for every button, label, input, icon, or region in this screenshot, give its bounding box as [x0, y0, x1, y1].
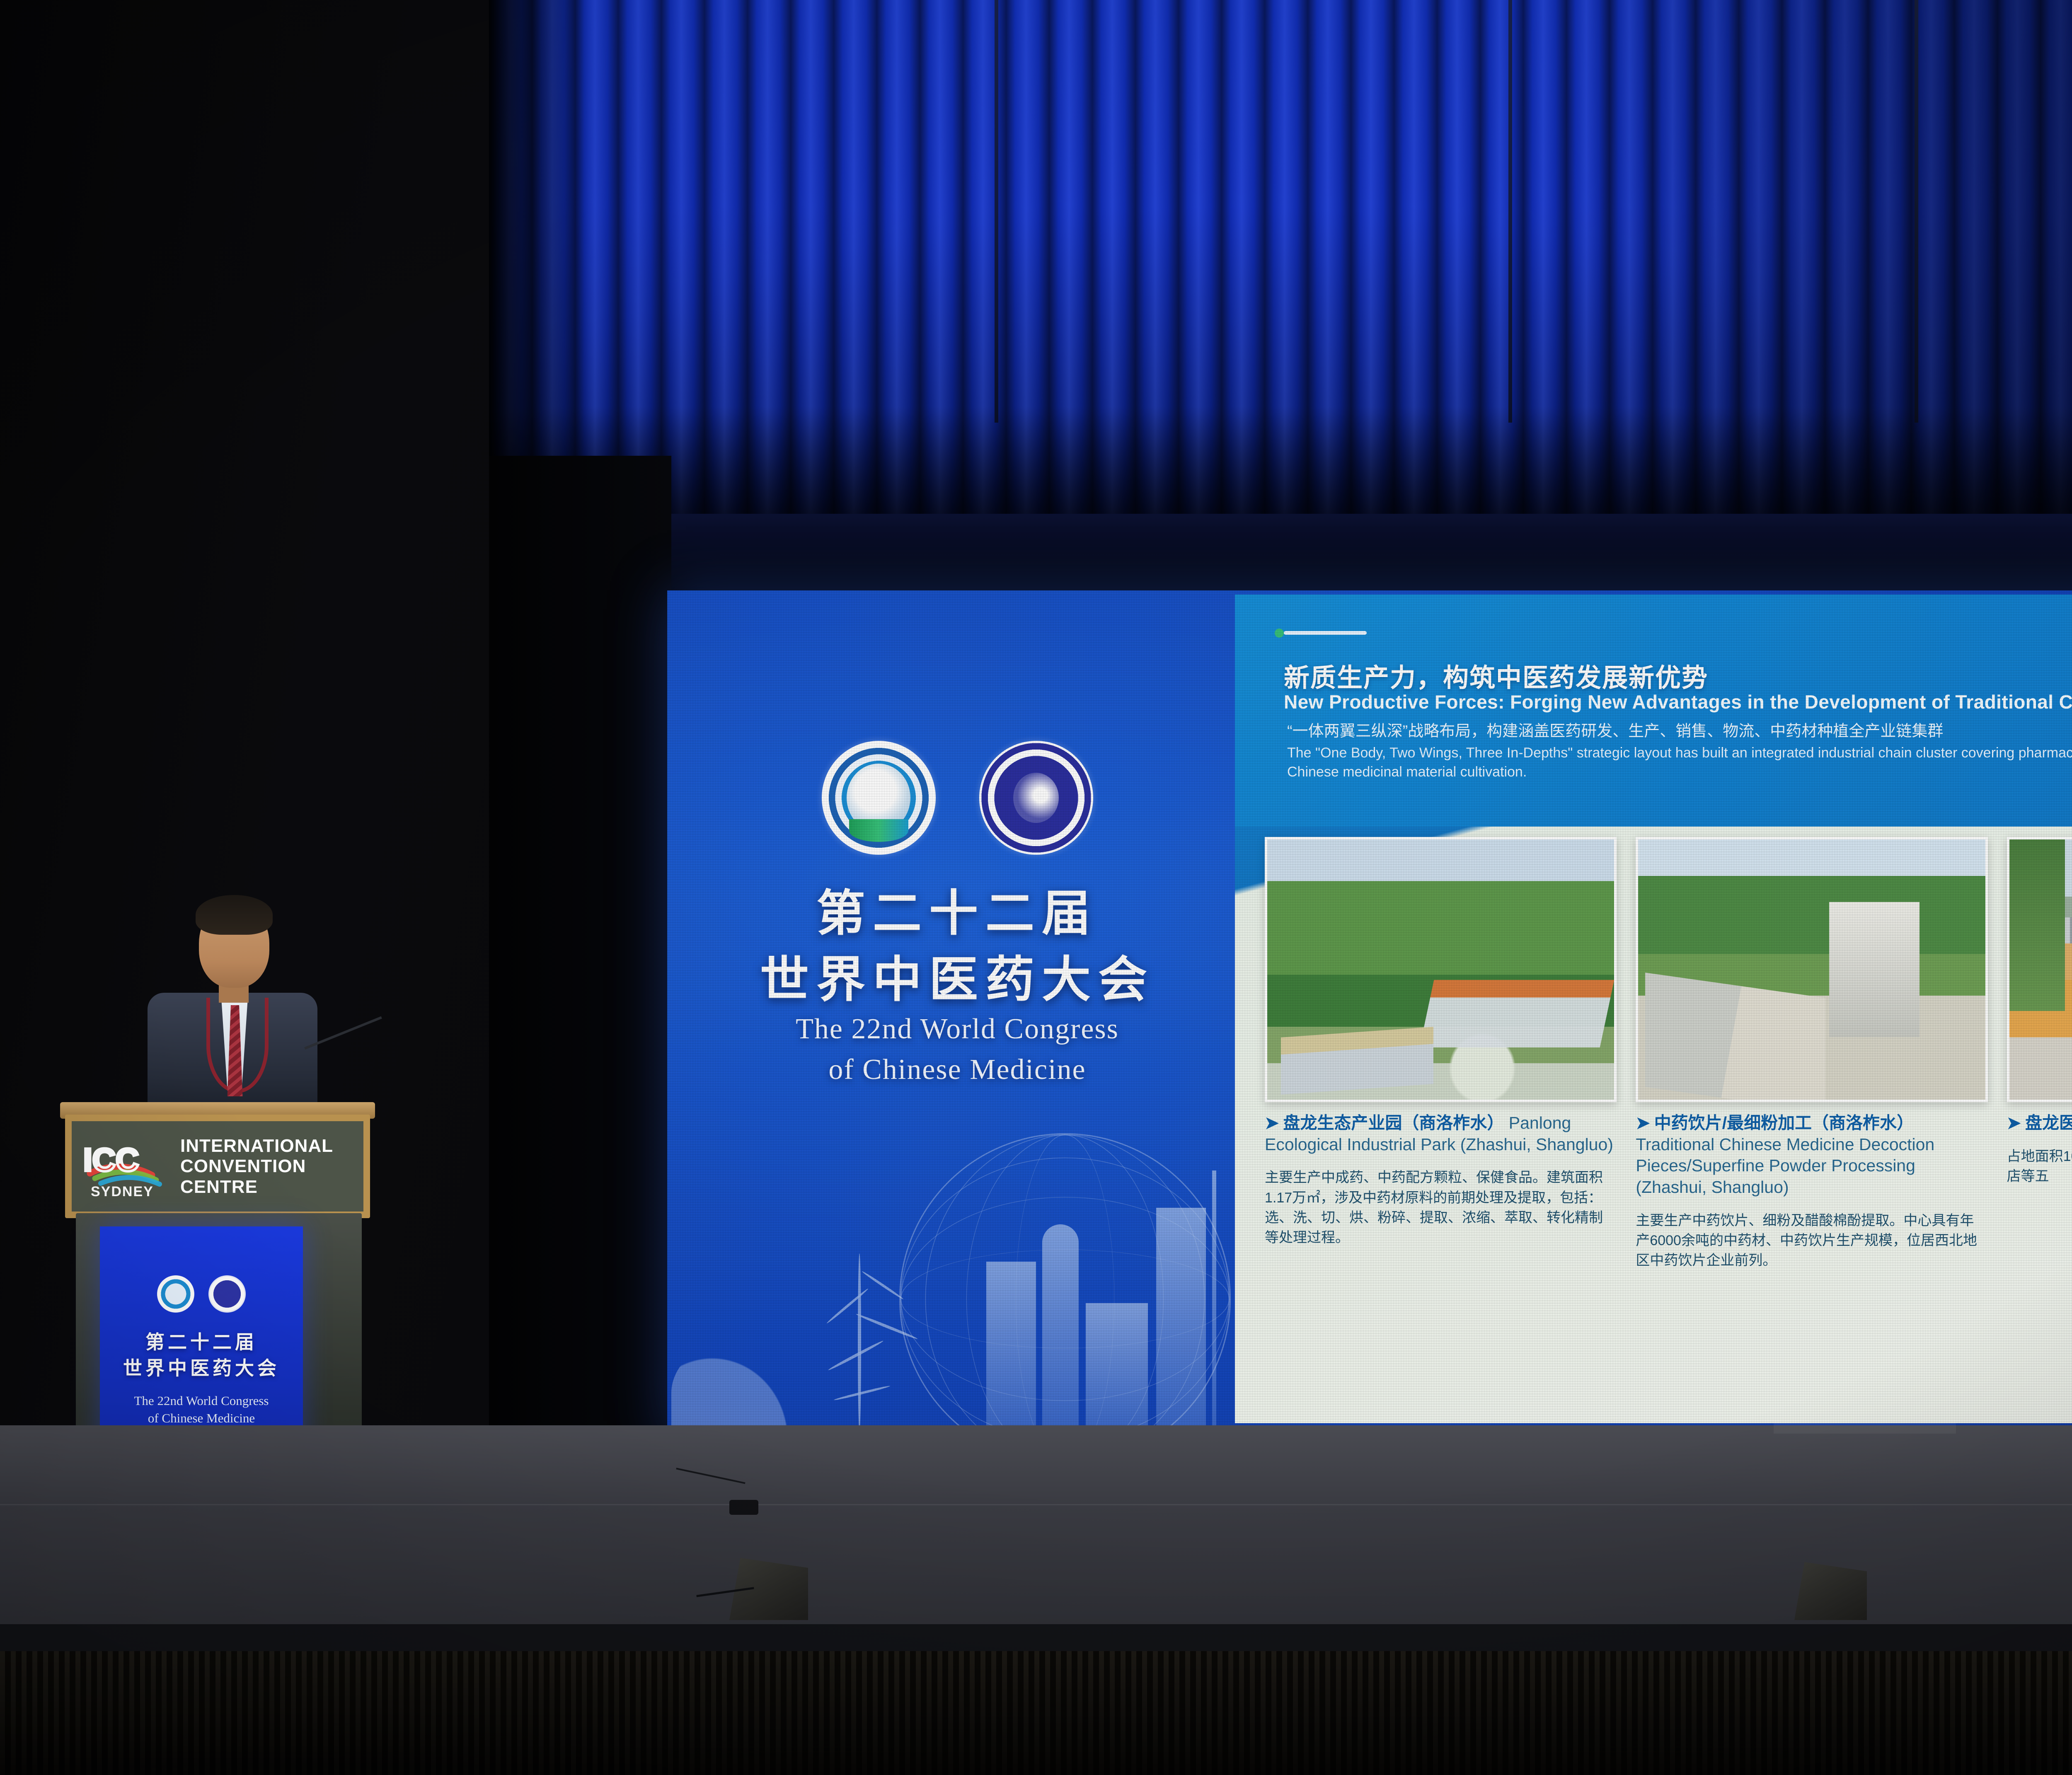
slide-caption-1: ➤盘龙生态产业园（商洛柞水） Panlong Ecological Indust…	[1265, 1112, 1617, 1270]
skyline-spire	[1212, 1170, 1216, 1440]
icc-sydney-wordmark: SYDNEY	[91, 1184, 154, 1200]
backdrop-decorative-artwork	[667, 1125, 1280, 1440]
slide-caption-row: ➤盘龙生态产业园（商洛柞水） Panlong Ecological Indust…	[1265, 1112, 2072, 1270]
slide-bullet-dot-icon	[1275, 629, 1284, 638]
emblem-row	[792, 735, 1123, 860]
chevron-right-icon: ➤	[1265, 1113, 1279, 1132]
australia-tcm-emblem-icon	[208, 1275, 246, 1313]
caption-body: 主要生产中药饮片、细粉及醋酸棉酚提取。中心具有年产6000余吨的中药材、中药饮片…	[1636, 1211, 1987, 1271]
chevron-right-icon: ➤	[2007, 1113, 2021, 1132]
led-backdrop-screen: 第二十二届 世界中医药大会 The 22nd World Congress of…	[667, 590, 2072, 1440]
skyline-tower	[986, 1262, 1036, 1440]
backdrop-title-english: The 22nd World Congress of Chinese Medic…	[709, 1009, 1206, 1090]
wfcms-emblem-icon	[157, 1275, 194, 1313]
slide-heading-english: New Productive Forces: Forging New Advan…	[1284, 691, 2072, 713]
skyline-tower	[1156, 1208, 1206, 1440]
icc-sydney-logo-icon: ICC ICC SYDNEY	[82, 1135, 169, 1197]
caption-heading-en: Traditional Chinese Medicine Decoction P…	[1636, 1135, 1934, 1197]
congress-identity-panel: 第二十二届 世界中医药大会 The 22nd World Congress of…	[667, 590, 1247, 1440]
stage-floor-seam	[0, 1504, 2072, 1505]
lectern-title-cn-line1: 第二十二届	[100, 1329, 303, 1355]
opera-house-silhouette-icon	[671, 1336, 808, 1440]
slide-rule-divider	[1284, 631, 1367, 635]
figure-icon	[1013, 773, 1059, 823]
slide-caption-3: ➤盘龙医药物流 Panlong Phar Industrial Par 占地面积…	[2007, 1112, 2072, 1270]
venue-name-line3: CENTRE	[180, 1177, 333, 1197]
venue-name-text: INTERNATIONAL CONVENTION CENTRE	[180, 1136, 333, 1197]
rigging-drop-line	[1508, 0, 1512, 423]
leaf-icon	[849, 819, 908, 842]
stage-floor-fixture	[729, 1500, 758, 1515]
rigging-drop-line	[1915, 0, 1918, 423]
stage-floor	[0, 1425, 2072, 1649]
caption-heading: ➤中药饮片/最细粉加工（商洛柞水） Traditional Chinese Me…	[1636, 1112, 1987, 1198]
venue-name-line2: CONVENTION	[180, 1156, 333, 1176]
backdrop-title-cn-line1: 第二十二届	[717, 880, 1198, 947]
venue-name-line1: INTERNATIONAL	[180, 1136, 333, 1156]
stage-apron-shadow	[0, 1651, 2072, 1775]
slide-photo-1	[1265, 837, 1617, 1102]
backdrop-title-en-line2: of Chinese Medicine	[709, 1050, 1206, 1090]
skyline-tower	[1042, 1224, 1079, 1440]
lectern-title-english: The 22nd World Congress of Chinese Medic…	[100, 1392, 303, 1427]
slide-photo-row	[1265, 837, 2072, 1102]
slide-photo-2	[1636, 837, 1987, 1102]
lectern-emblem-row	[150, 1275, 253, 1313]
lectern-title-chinese: 第二十二届 世界中医药大会	[100, 1329, 303, 1381]
slide-heading-chinese: 新质生产力，构筑中医药发展新优势	[1284, 657, 2072, 694]
speaker-person	[137, 891, 327, 1106]
botanical-line-art-icon	[808, 1237, 932, 1432]
caption-heading: ➤盘龙医药物流 Panlong Phar Industrial Par	[2007, 1112, 2072, 1134]
slide-subtitle-english: The "One Body, Two Wings, Three In-Depth…	[1287, 744, 2072, 781]
stage-edge-trim	[0, 1624, 2072, 1653]
slide-photo-3	[2007, 837, 2072, 1102]
slide-caption-2: ➤中药饮片/最细粉加工（商洛柞水） Traditional Chinese Me…	[1636, 1112, 1987, 1270]
caption-body: 占地面积108亩，建 医疗器械销售、医药 和零售连锁药店等五	[2007, 1146, 2072, 1187]
backdrop-title-chinese: 第二十二届 世界中医药大会	[717, 880, 1198, 1013]
backdrop-title-cn-line2: 世界中医药大会	[717, 947, 1198, 1013]
presentation-slide: 新质生产力，构筑中医药发展新优势 New Productive Forces: …	[1235, 595, 2072, 1423]
backdrop-title-en-line1: The 22nd World Congress	[709, 1009, 1206, 1050]
floor-monitor-speaker	[1794, 1562, 1867, 1620]
lectern-title-cn-line2: 世界中医药大会	[100, 1355, 303, 1381]
lectern-title-en-line2: of Chinese Medicine	[100, 1410, 303, 1427]
auditorium-stage-scene: 第二十二届 世界中医药大会 The 22nd World Congress of…	[0, 0, 2072, 1775]
lectern-title-en-line1: The 22nd World Congress	[100, 1392, 303, 1410]
venue-sign: ICC ICC SYDNEY INTERNATIONAL CONVENTION …	[65, 1115, 370, 1218]
screen-left-mask	[489, 456, 671, 1516]
speaker-hair	[196, 895, 273, 935]
svg-text:ICC: ICC	[83, 1141, 139, 1178]
caption-heading: ➤盘龙生态产业园（商洛柞水） Panlong Ecological Indust…	[1265, 1112, 1617, 1155]
wfcms-emblem-icon	[822, 741, 936, 855]
stage-floor-light-strip	[1774, 1421, 1956, 1434]
rigging-drop-line	[995, 0, 998, 423]
caption-body: 主要生产中成药、中药配方颗粒、保健食品。建筑面积1.17万㎡，涉及中药材原料的前…	[1265, 1168, 1617, 1248]
australia-tcm-emblem-icon	[979, 741, 1093, 855]
chevron-right-icon: ➤	[1636, 1113, 1650, 1132]
slide-subtitle-chinese: “一体两翼三纵深”战略布局，构建涵盖医药研发、生产、销售、物流、中药材种植全产业…	[1287, 721, 2072, 742]
skyline-tower	[1086, 1303, 1148, 1440]
